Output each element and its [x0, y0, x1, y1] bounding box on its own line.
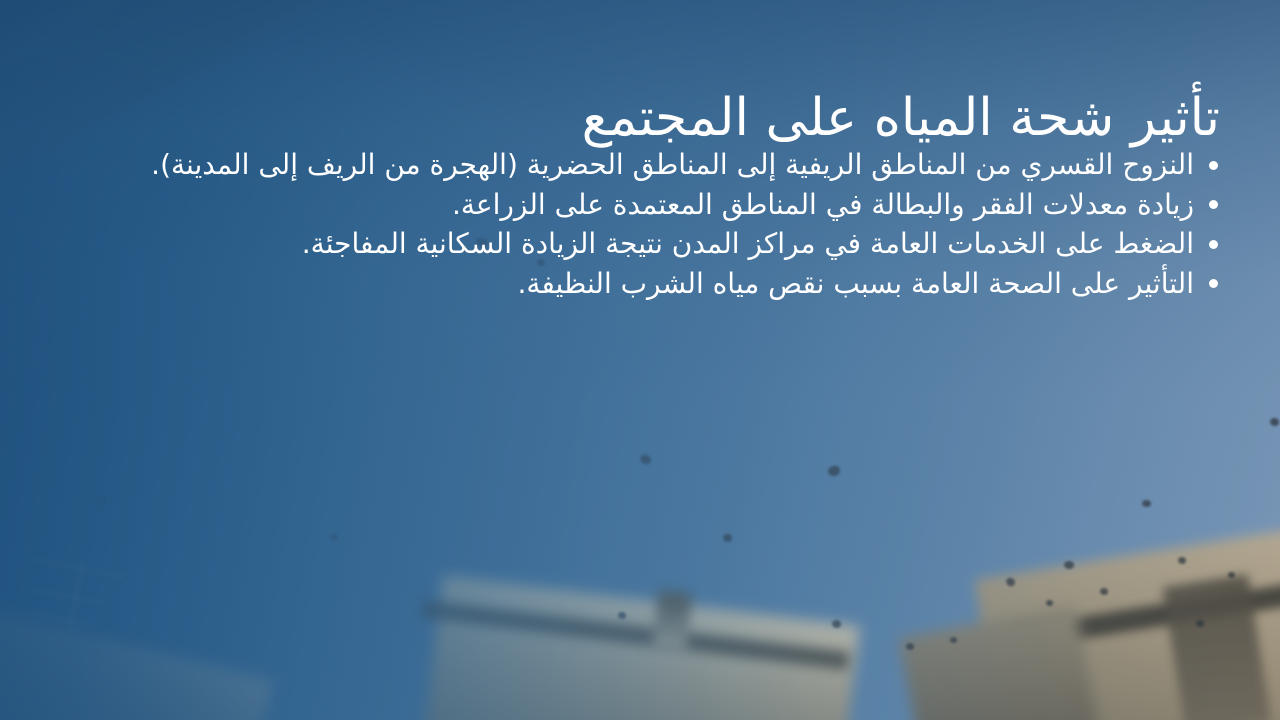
list-item: النزوح القسري من المناطق الريفية إلى الم…: [58, 146, 1220, 184]
bullet-point-icon: [1209, 200, 1218, 209]
list-item: زيادة معدلات الفقر والبطالة في المناطق ا…: [58, 186, 1220, 224]
list-item-text: النزوح القسري من المناطق الريفية إلى الم…: [151, 148, 1194, 181]
slide-title: تأثير شحة المياه على المجتمع: [60, 89, 1220, 148]
bullet-point-icon: [1209, 161, 1218, 170]
bullet-point-icon: [1209, 240, 1218, 249]
list-item: التأثير على الصحة العامة بسبب نقص مياه ا…: [58, 265, 1220, 303]
list-item-text: زيادة معدلات الفقر والبطالة في المناطق ا…: [452, 188, 1194, 221]
list-item-text: التأثير على الصحة العامة بسبب نقص مياه ا…: [517, 267, 1194, 300]
slide: تأثير شحة المياه على المجتمع النزوح القس…: [0, 0, 1280, 720]
list-item: الضغط على الخدمات العامة في مراكز المدن …: [58, 225, 1220, 263]
bullet-point-icon: [1209, 279, 1218, 288]
bullet-list: النزوح القسري من المناطق الريفية إلى الم…: [58, 146, 1220, 304]
slide-content: تأثير شحة المياه على المجتمع النزوح القس…: [0, 0, 1280, 720]
list-item-text: الضغط على الخدمات العامة في مراكز المدن …: [302, 227, 1194, 260]
